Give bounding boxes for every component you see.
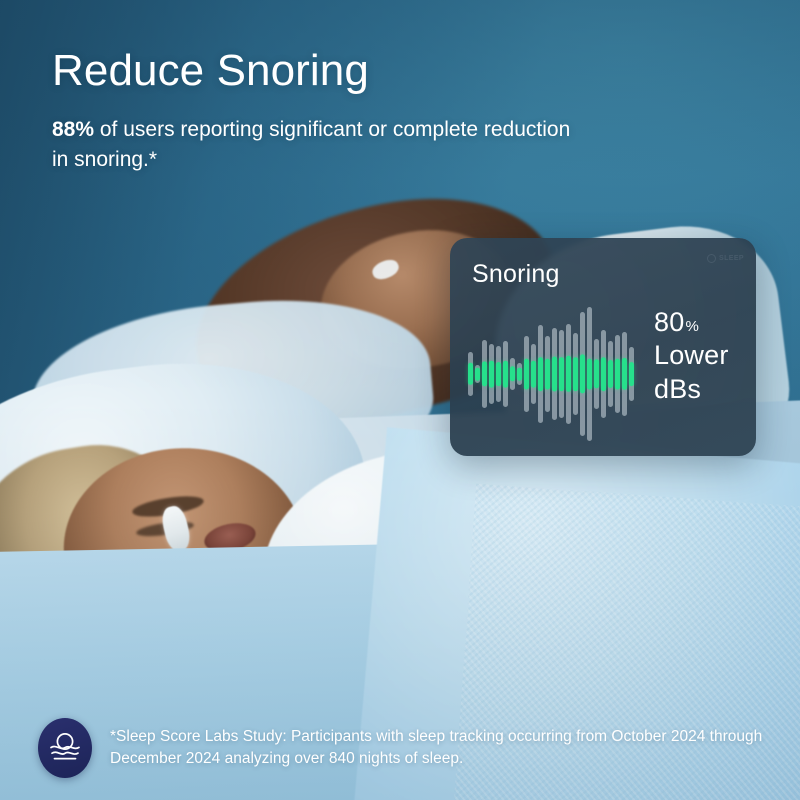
waveform-bar	[622, 332, 627, 416]
waveform-bar	[615, 335, 620, 413]
waveform-bar	[559, 330, 564, 418]
waveform-bar	[524, 336, 529, 412]
waveform-bar-active	[622, 358, 627, 390]
waveform-bar-active	[566, 356, 571, 392]
waveform-bar	[566, 324, 571, 425]
waveform-bar	[517, 363, 522, 385]
waveform-bar	[587, 307, 592, 441]
waveform-bar-active	[587, 359, 592, 390]
waveform-bar-active	[580, 354, 585, 393]
waveform-bar-active	[552, 356, 557, 391]
card-title: Snoring	[472, 260, 560, 289]
waveform-bar	[552, 328, 557, 420]
waveform-bar-active	[468, 363, 473, 385]
metric-value: 80	[654, 306, 684, 339]
waveform-bar-active	[629, 362, 634, 386]
metric-label-line-1: Lower	[654, 339, 729, 372]
metric-unit: %	[685, 318, 699, 337]
waveform-bar	[489, 344, 494, 404]
waveform-bar	[545, 336, 550, 412]
waveform-bar	[573, 333, 578, 414]
stat-percentage: 88%	[52, 118, 94, 141]
waveform-bar-active	[517, 368, 522, 381]
waveform-bar-active	[545, 359, 550, 390]
waveform-bar-active	[594, 359, 599, 388]
waveform-bar-active	[615, 359, 620, 390]
waveform-bar-active	[503, 361, 508, 388]
metric-block: 80 % Lower dBs	[654, 306, 729, 406]
waveform-bar-active	[573, 357, 578, 391]
waveform-bar	[538, 325, 543, 423]
waveform-bar-active	[608, 360, 613, 388]
waveform-bar	[496, 346, 501, 402]
waveform-bar-active	[510, 366, 515, 381]
waveform-bar	[531, 344, 536, 404]
waveform-bar	[468, 352, 473, 397]
watermark-circle-icon	[707, 254, 716, 263]
subheadline-text: of users reporting significant or comple…	[52, 118, 570, 171]
waveform-bar	[594, 339, 599, 409]
footnote-line-1: *Sleep Score Labs Study: Participants wi…	[110, 728, 607, 745]
promo-graphic: Reduce Snoring 88% of users reporting si…	[0, 0, 800, 800]
sleep-score-labs-logo-icon	[38, 718, 92, 778]
subheadline: 88% of users reporting significant or co…	[52, 115, 592, 176]
waveform-bar-active	[524, 359, 529, 390]
page-title: Reduce Snoring	[52, 46, 369, 95]
waveform-bar	[601, 330, 606, 418]
waveform-bar	[475, 365, 480, 383]
waveform-bar-active	[475, 368, 480, 381]
waveform-bar-active	[531, 361, 536, 388]
snoring-card[interactable]: SLEEP Snoring 80 % Lower dBs	[450, 238, 756, 456]
waveform-bar-active	[489, 361, 494, 388]
brand-watermark-icon: SLEEP	[707, 254, 744, 263]
waveform-bar	[629, 347, 634, 400]
waveform-bar-active	[482, 361, 487, 386]
watermark-label: SLEEP	[719, 255, 744, 262]
waveform-bar-active	[601, 357, 606, 391]
footnote-text: *Sleep Score Labs Study: Participants wi…	[110, 726, 770, 770]
waveform-bar	[503, 341, 508, 407]
waveform-bar-active	[538, 357, 543, 391]
waveform-bar-active	[559, 357, 564, 391]
metric-label-line-2: dBs	[654, 373, 729, 406]
waveform-bar	[580, 312, 585, 435]
metric-value-row: 80 %	[654, 306, 729, 339]
waveform-bar-active	[496, 362, 501, 386]
footer-disclaimer-bar: *Sleep Score Labs Study: Participants wi…	[0, 704, 800, 800]
waveform-bar	[482, 340, 487, 409]
snoring-waveform-chart	[468, 304, 634, 444]
waveform-bar	[608, 341, 613, 407]
waveform-bar	[510, 358, 515, 390]
